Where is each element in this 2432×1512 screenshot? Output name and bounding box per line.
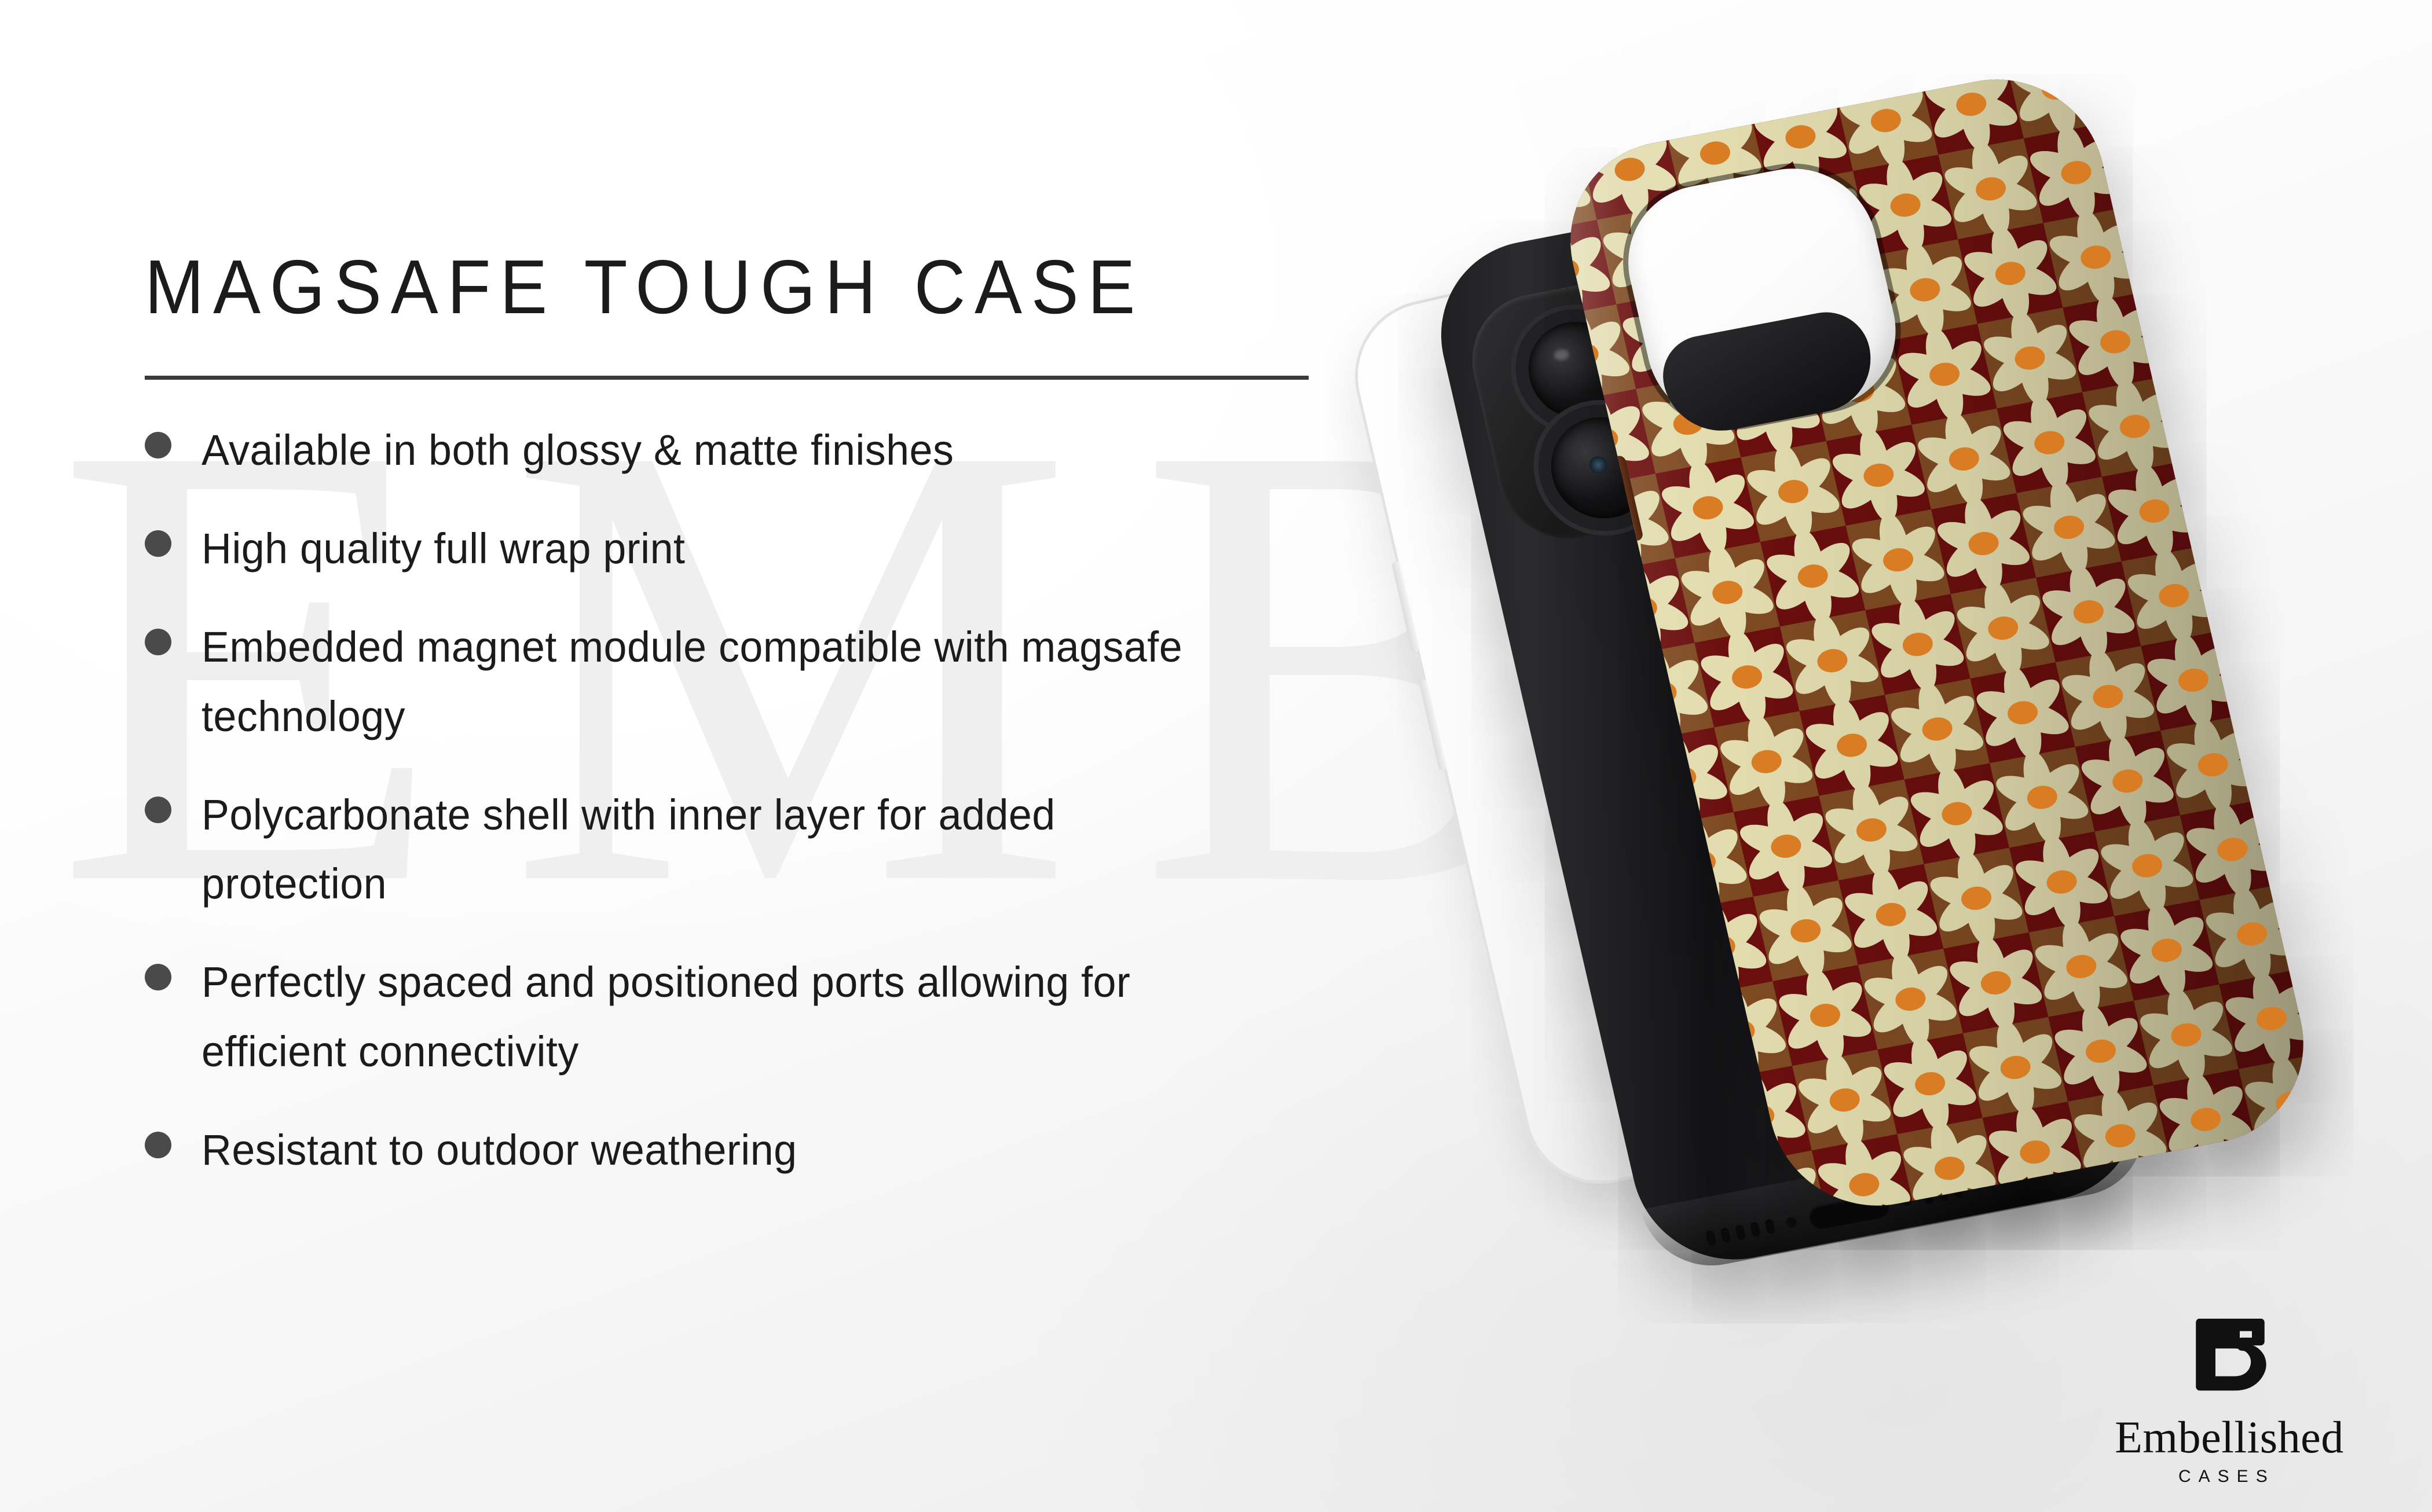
daisy-flower-icon — [2160, 714, 2265, 815]
product-image — [1262, 87, 2363, 1418]
daisy-flower-icon — [2253, 343, 2324, 444]
daisy-flower-icon — [2082, 376, 2187, 476]
bullet-dot-icon — [145, 1132, 171, 1158]
lens-pupil — [1588, 455, 1609, 475]
daisy-flower-icon — [2122, 545, 2226, 646]
daisy-flower-icon — [2312, 597, 2324, 698]
feature-text: Resistant to outdoor weathering — [202, 1115, 797, 1185]
daisy-flower-icon — [2273, 428, 2324, 529]
e-monogram-icon — [2186, 1319, 2273, 1411]
daisy-flower-icon — [2173, 1154, 2277, 1223]
lens-glint — [1553, 348, 1570, 361]
daisy-flower-icon — [2200, 883, 2305, 984]
feature-text: Perfectly spaced and positioned ports al… — [202, 948, 1252, 1087]
feature-text: Available in both glossy & matte finishe… — [202, 416, 954, 485]
list-item: Embedded magnet module compatible with m… — [145, 612, 1361, 751]
daisy-flower-icon — [2180, 799, 2285, 900]
bullet-dot-icon — [145, 530, 171, 557]
bullet-dot-icon — [145, 964, 171, 990]
daisy-flower-icon — [2129, 190, 2233, 291]
daisy-flower-icon — [1558, 62, 1662, 135]
daisy-flower-icon — [2043, 207, 2148, 307]
content-column: MAGSAFE TOUGH CASE Available in both glo… — [145, 249, 1361, 1214]
list-item: Polycarbonate shell with inner layer for… — [145, 780, 1361, 919]
list-item: Perfectly spaced and positioned ports al… — [145, 948, 1361, 1087]
daisy-flower-icon — [2175, 62, 2280, 106]
volume-up-button — [1391, 561, 1420, 653]
daisy-flower-icon — [2285, 867, 2324, 968]
daisy-flower-icon — [2063, 291, 2167, 392]
daisy-flower-icon — [2299, 158, 2324, 259]
bullet-dot-icon — [145, 432, 171, 458]
feature-list: Available in both glossy & matte finishe… — [145, 416, 1361, 1185]
feature-text: High quality full wrap print — [202, 514, 685, 583]
daisy-flower-icon — [2195, 90, 2299, 190]
volume-down-button — [1419, 679, 1448, 771]
daisy-flower-icon — [2090, 62, 2195, 122]
page-title: MAGSAFE TOUGH CASE — [145, 249, 1276, 325]
logo-wordmark: Embellished — [2079, 1415, 2380, 1460]
daisy-flower-icon — [1899, 62, 2004, 70]
bullet-dot-icon — [145, 629, 171, 655]
daisy-flower-icon — [2168, 359, 2273, 460]
daisy-flower-icon — [2207, 529, 2312, 630]
daisy-flower-icon — [1550, 62, 1577, 152]
daisy-flower-icon — [2319, 243, 2324, 343]
daisy-flower-icon — [2187, 444, 2292, 545]
list-item: High quality full wrap print — [145, 514, 1361, 583]
daisy-flower-icon — [2246, 698, 2324, 799]
product-feature-poster: EMB MAGSAFE TOUGH CASE Available in both… — [0, 0, 2432, 1512]
daisy-flower-icon — [2261, 62, 2324, 90]
daisy-layer — [1550, 62, 2107, 67]
brand-logo: Embellished CASES — [2079, 1319, 2380, 1487]
daisy-flower-icon — [2024, 122, 2129, 223]
daisy-flower-icon — [1728, 62, 1833, 102]
daisy-flower-icon — [1814, 62, 1919, 86]
daisy-flower-icon — [1833, 70, 1938, 171]
feature-text: Polycarbonate shell with inner layer for… — [202, 780, 1252, 919]
daisy-flower-icon — [2109, 106, 2214, 207]
daisy-flower-icon — [2280, 74, 2324, 174]
daisy-flower-icon — [2226, 614, 2324, 714]
daisy-flower-icon — [2239, 1053, 2324, 1154]
title-divider — [145, 376, 1309, 380]
daisy-flower-icon — [1643, 62, 1748, 119]
daisy-flower-icon — [2305, 952, 2324, 1052]
logo-subtitle: CASES — [2178, 1467, 2380, 1487]
list-item: Available in both glossy & matte finishe… — [145, 416, 1361, 485]
daisy-flower-icon — [2148, 275, 2253, 376]
daisy-flower-icon — [2141, 630, 2246, 731]
daisy-flower-icon — [2214, 174, 2319, 275]
daisy-flower-icon — [2102, 461, 2207, 562]
daisy-flower-icon — [2265, 783, 2324, 883]
list-item: Resistant to outdoor weathering — [145, 1115, 1361, 1185]
daisy-flower-icon — [2233, 259, 2324, 359]
feature-text: Embedded magnet module compatible with m… — [202, 612, 1252, 751]
daisy-flower-icon — [2258, 1137, 2324, 1223]
daisy-flower-icon — [2292, 512, 2324, 613]
daisy-flower-icon — [2278, 1222, 2324, 1223]
bullet-dot-icon — [145, 797, 171, 823]
daisy-flower-icon — [2219, 968, 2324, 1069]
